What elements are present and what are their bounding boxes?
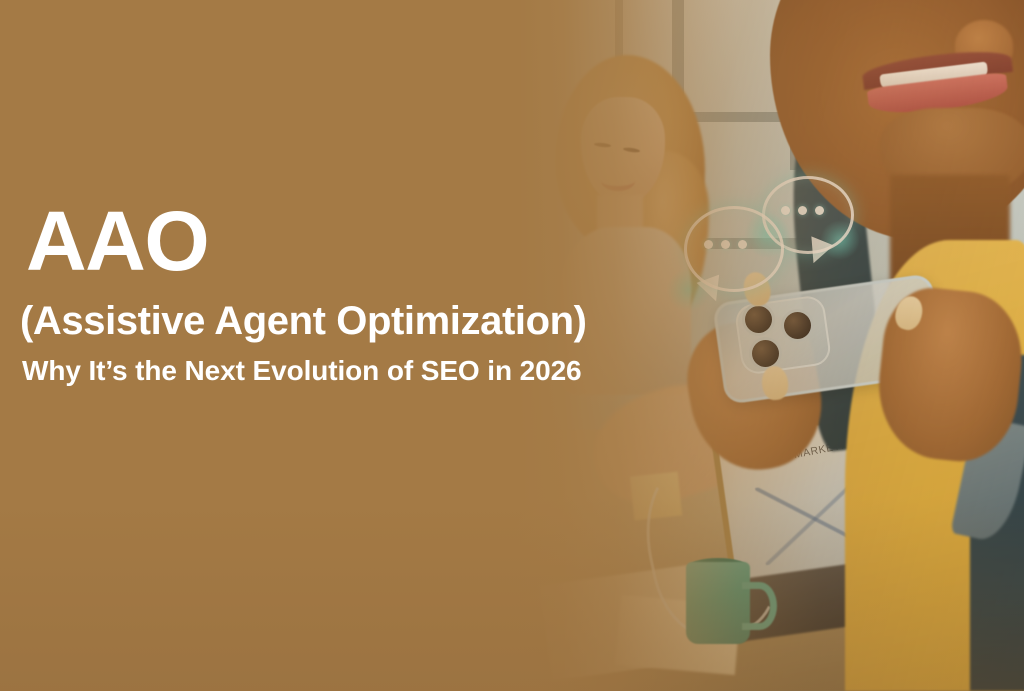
smile — [601, 171, 635, 191]
chin — [880, 108, 1024, 198]
denim-jacket — [783, 117, 889, 453]
lower-lip — [867, 72, 1010, 119]
yellow-shirt — [845, 240, 1024, 691]
laptop-screen — [710, 413, 915, 609]
page-title: AAO — [26, 196, 587, 286]
reaching-arm — [579, 370, 756, 521]
hair-curls — [631, 151, 709, 321]
left-hand — [678, 310, 832, 480]
chat-bubble-icon — [684, 206, 784, 292]
eye — [623, 147, 640, 153]
fingernail — [740, 269, 773, 308]
window-mullion — [615, 0, 623, 300]
page-subtitle: (Assistive Agent Optimization) — [20, 298, 587, 344]
right-hand — [871, 283, 1024, 467]
denim-jacket — [970, 355, 1024, 691]
eye — [594, 142, 611, 148]
nose — [955, 20, 1013, 72]
page-tagline: Why It’s the Next Evolution of SEO in 20… — [22, 354, 587, 388]
dot — [738, 240, 747, 249]
mug-rim — [688, 558, 748, 576]
jacket-collar — [950, 415, 1024, 544]
teal-coffee-mug — [686, 562, 750, 644]
window-mullion — [620, 238, 820, 249]
teal-glow — [744, 212, 790, 258]
hero-banner: DIGITAL MARKETING CAMPAIGN — [0, 0, 1024, 691]
desk-surface — [520, 430, 1024, 691]
dot — [704, 240, 713, 249]
sticky-note — [630, 472, 682, 521]
teal-glow — [820, 220, 860, 260]
screen-chart-graphic — [755, 473, 875, 566]
cable — [631, 444, 792, 647]
window-mullion — [672, 0, 684, 330]
laptop-keyboard-base — [737, 556, 907, 642]
fingernail — [892, 293, 926, 333]
dot — [781, 206, 790, 215]
paper-sheet — [539, 565, 701, 681]
camera-lens — [745, 306, 772, 333]
paper-sheet — [615, 595, 741, 675]
window-mullion — [620, 112, 850, 122]
upper-lip — [861, 46, 1013, 90]
camera-lens — [752, 340, 779, 367]
laptop-screen-label: DIGITAL MARKETING CAMPAIGN — [746, 428, 905, 470]
phone-camera-module — [734, 294, 833, 376]
teal-glow — [666, 268, 710, 312]
face — [581, 97, 665, 205]
smartphone — [712, 273, 945, 405]
camera-lens — [784, 312, 811, 339]
dot — [815, 206, 824, 215]
typing-dots-icon — [704, 240, 747, 249]
dot — [721, 240, 730, 249]
window-glass-pane — [620, 0, 860, 300]
neck — [890, 175, 1010, 295]
neck — [597, 195, 643, 245]
typing-dots-icon — [781, 206, 824, 215]
mug-handle — [742, 582, 777, 630]
chat-bubble-tail — [802, 236, 833, 267]
teeth — [879, 61, 988, 91]
fingernail — [760, 365, 789, 402]
hero-text-block: AAO (Assistive Agent Optimization) Why I… — [26, 196, 587, 388]
dot — [798, 206, 807, 215]
chat-bubble-tail — [697, 275, 728, 306]
chat-bubble-icon — [762, 176, 854, 254]
smiling-person-face — [770, 0, 1024, 240]
window-mullion — [790, 0, 799, 170]
